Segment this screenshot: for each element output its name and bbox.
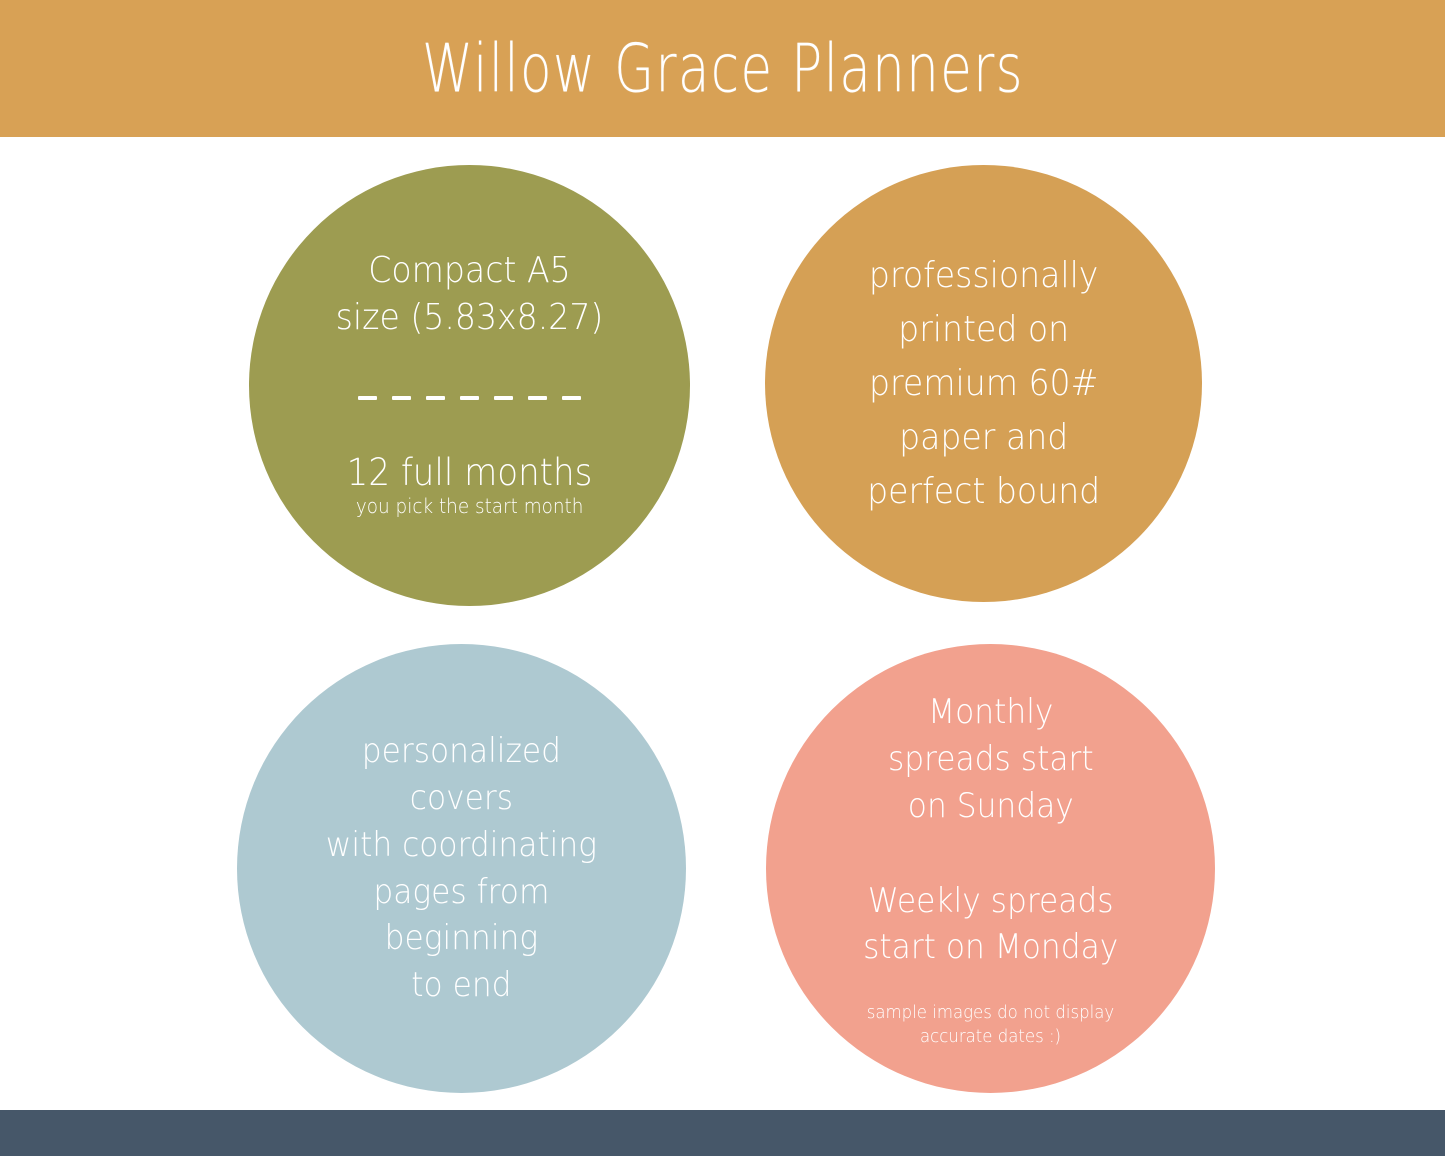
- dashed-divider: [358, 396, 581, 400]
- bubble-spreads-note-text: sample images do not display accurate da…: [867, 1001, 1114, 1048]
- divider-dash: [528, 396, 547, 400]
- bubble-size-months-text: 12 full months: [347, 454, 593, 493]
- divider-dash: [426, 396, 445, 400]
- divider-dash: [460, 396, 479, 400]
- feature-bubble-size: Compact A5 size (5.83x8.27) 12 full mont…: [249, 165, 690, 606]
- divider-dash: [392, 396, 411, 400]
- divider-dash: [494, 396, 513, 400]
- feature-bubble-covers: personalized covers with coordinating pa…: [237, 644, 686, 1093]
- bubble-size-subtext: you pick the start month: [356, 494, 584, 518]
- feature-bubbles-canvas: Compact A5 size (5.83x8.27) 12 full mont…: [0, 137, 1445, 1110]
- footer-band: [0, 1110, 1445, 1156]
- feature-bubble-printing: professionally printed on premium 60# pa…: [765, 165, 1202, 602]
- bubble-spreads-monthly-text: Monthly spreads start on Sunday: [888, 689, 1094, 830]
- divider-dash: [358, 396, 377, 400]
- divider-dash: [562, 396, 581, 400]
- bubble-spreads-weekly-text: Weekly spreads start on Monday: [863, 878, 1118, 972]
- feature-bubble-spreads: Monthly spreads start on Sunday Weekly s…: [766, 644, 1215, 1093]
- bubble-printing-main-text: professionally printed on premium 60# pa…: [867, 249, 1100, 519]
- bubble-covers-main-text: personalized covers with coordinating pa…: [326, 728, 597, 1009]
- bubble-size-main-text: Compact A5 size (5.83x8.27): [336, 247, 604, 342]
- page-title: Willow Grace Planners: [422, 35, 1024, 102]
- header-band: Willow Grace Planners: [0, 0, 1445, 137]
